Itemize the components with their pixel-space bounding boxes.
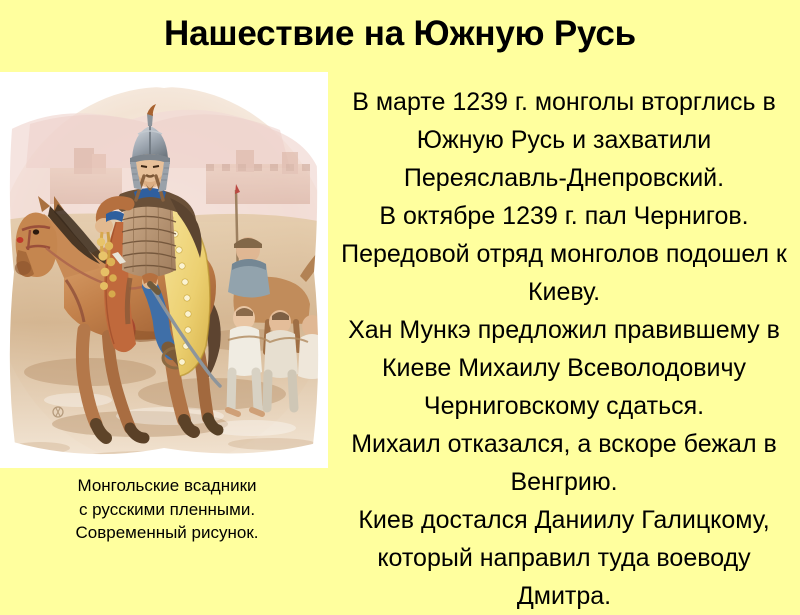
mongol-horsemen-illustration <box>0 72 328 468</box>
picture-block <box>0 72 328 468</box>
caption-line: Монгольские всадники <box>8 474 326 498</box>
body-paragraph: В марте 1239 г. монголы вторглись в Южну… <box>334 83 794 197</box>
caption-line: Современный рисунок. <box>8 521 326 545</box>
body-paragraph: Киев достался Даниилу Галицкому, который… <box>334 501 794 615</box>
body-paragraph: Михаил отказался, а вскоре бежал в Венгр… <box>334 425 794 501</box>
body-text: В марте 1239 г. монголы вторглись в Южну… <box>334 83 794 615</box>
caption-line: с русскими пленными. <box>8 498 326 522</box>
picture-caption: Монгольские всадники с русскими пленными… <box>8 474 326 545</box>
body-paragraph: В октябре 1239 г. пал Чернигов. <box>334 197 794 235</box>
page-title: Нашествие на Южную Русь <box>0 12 800 56</box>
slide: Нашествие на Южную Русь <box>0 0 800 600</box>
body-paragraph: Хан Мункэ предложил правившему в Киеве М… <box>334 311 794 425</box>
body-paragraph: Передовой отряд монголов подошел к Киеву… <box>334 235 794 311</box>
illustration-frame <box>0 72 328 468</box>
